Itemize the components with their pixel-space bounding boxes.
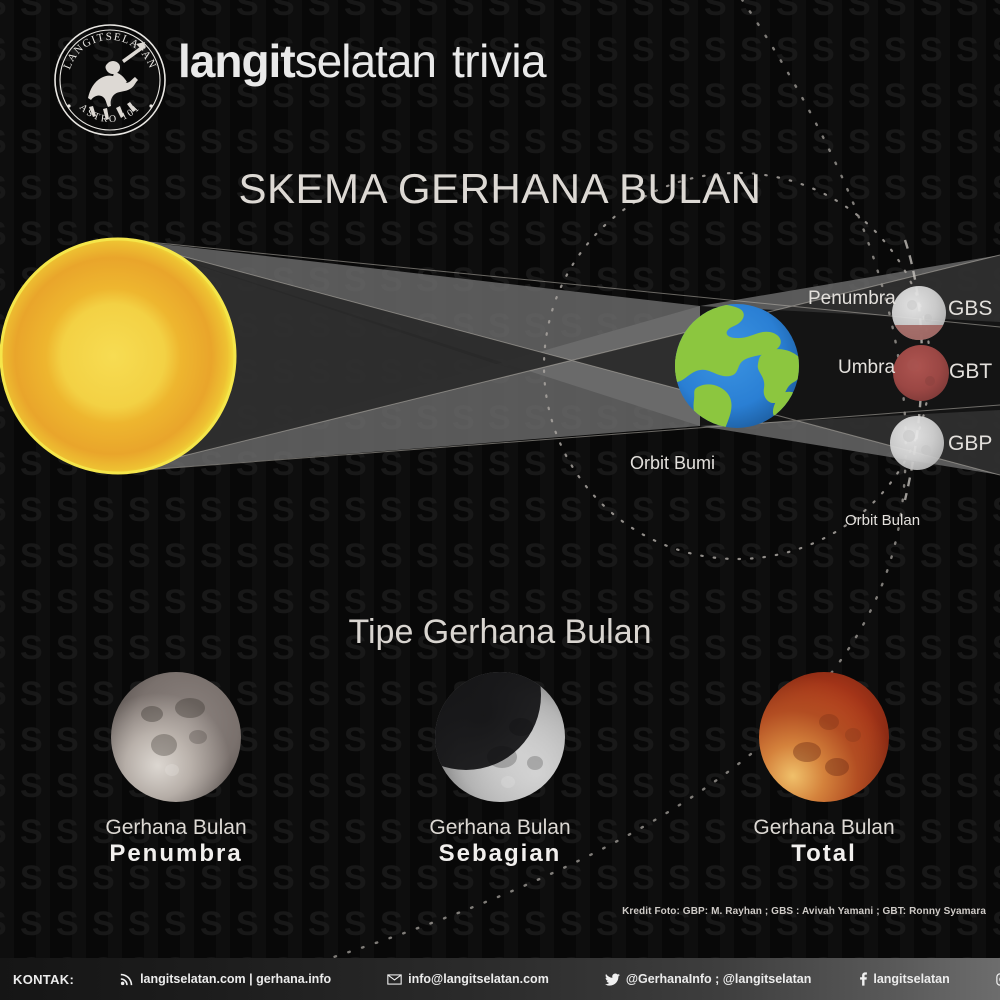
instagram-icon [996,973,1000,986]
caption-line1: Gerhana Bulan [405,816,595,840]
caption-line2: Sebagian [405,840,595,869]
caption-line1: Gerhana Bulan [81,816,271,840]
footer-item-facebook[interactable]: langitselatan [859,972,949,986]
caption-line2: Penumbra [81,840,271,869]
photo-credit: Kredit Foto: GBP: M. Rayhan ; GBS : Aviv… [622,906,986,917]
footer-item-website[interactable]: langitselatan.com | gerhana.info [120,972,331,986]
moon-penumbral-photo [111,672,241,802]
footer-item-twitter[interactable]: @GerhanaInfo ; @langitselatan [605,972,812,986]
footer-contact-bar: KONTAK: langitselatan.com | gerhana.info… [0,958,1000,1000]
footer-email-text: info@langitselatan.com [408,972,549,986]
sun [0,238,236,474]
brand-trivia: trivia [452,35,546,87]
caption-partial: Gerhana Bulan Sebagian [405,816,595,869]
footer-twitter-text: @GerhanaInfo ; @langitselatan [626,972,812,986]
eclipse-type-penumbral: Gerhana Bulan Penumbra [81,672,271,872]
envelope-icon [387,974,402,985]
infographic-poster: S [0,0,1000,1000]
footer-item-instagram[interactable]: langitselatanmedia [996,972,1000,986]
footer-item-email[interactable]: info@langitselatan.com [387,972,549,986]
footer-website-text: langitselatan.com | gerhana.info [140,972,331,986]
caption-line1: Gerhana Bulan [729,816,919,840]
langitselatan-logo: LANGITSELATAN ASTRO 101 [50,20,170,140]
brand-wordmark: langitselatantrivia [178,38,546,84]
moon-total-photo [759,672,889,802]
moon-gbt [893,345,949,401]
footer-facebook-text: langitselatan [873,972,949,986]
moon-gbp [890,416,944,470]
rss-icon [120,972,134,986]
moon-partial-photo [435,672,565,802]
page-header: LANGITSELATAN ASTRO 101 langitselatant [0,0,1000,140]
caption-line2: Total [729,840,919,869]
footer-kontak-label: KONTAK: [13,972,74,987]
brand-langit: langit [178,35,295,87]
caption-penumbral: Gerhana Bulan Penumbra [81,816,271,869]
brand-selatan: selatan [295,35,436,87]
caption-total: Gerhana Bulan Total [729,816,919,869]
twitter-icon [605,973,620,986]
eclipse-types-row: Gerhana Bulan Penumbra Gerhana Bulan Seb… [0,672,1000,872]
facebook-icon [859,972,867,986]
eclipse-type-total: Gerhana Bulan Total [729,672,919,872]
eclipse-type-partial: Gerhana Bulan Sebagian [405,672,595,872]
